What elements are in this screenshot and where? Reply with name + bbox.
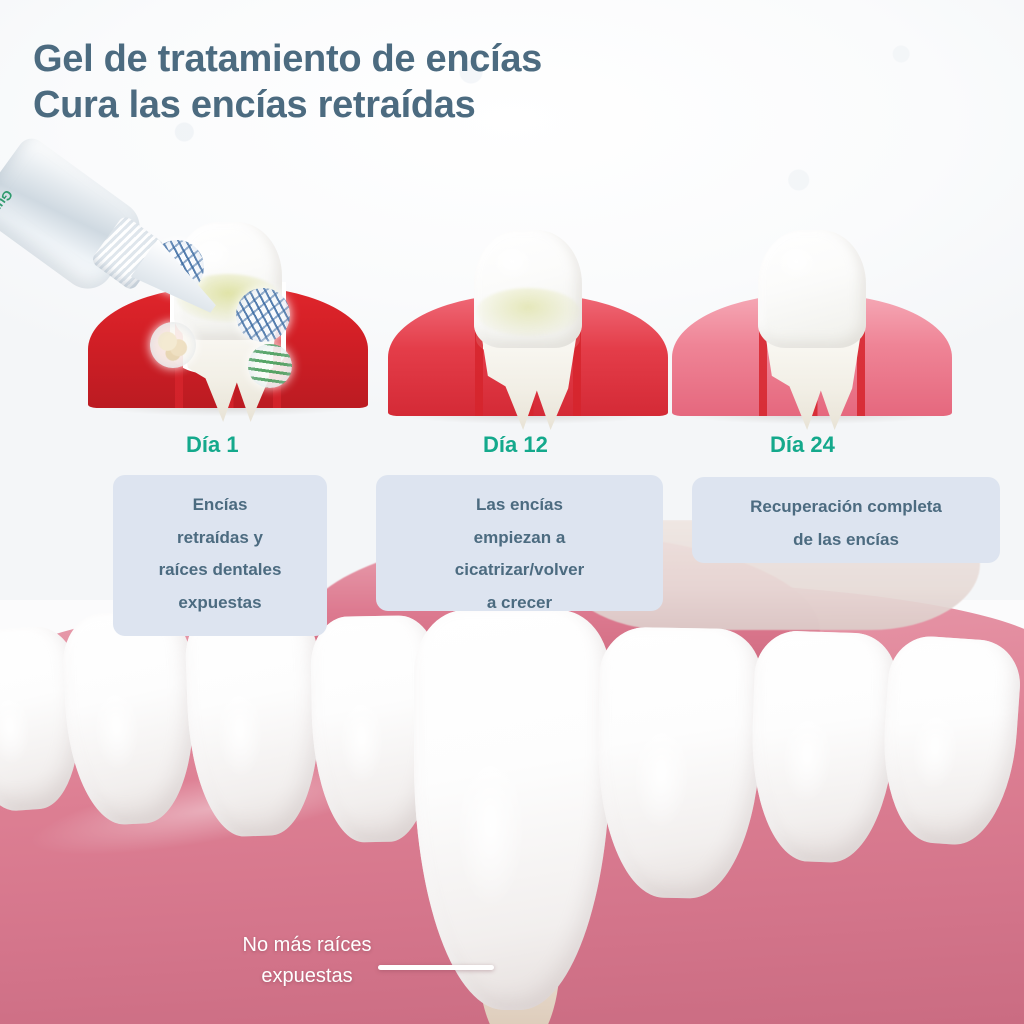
day-label-1: Día 1: [186, 432, 239, 458]
stage-caption-3: Recuperación completa de las encías: [692, 477, 1000, 563]
bottom-note-pointer-line: [378, 965, 494, 970]
gel-action-magnifier-icon: [248, 344, 292, 388]
day-label-3: Día 24: [770, 432, 835, 458]
stage-diagram-day24: [672, 230, 952, 420]
tooth-crown: [758, 230, 866, 348]
plaque-deposit: [476, 288, 580, 336]
title-line-2: Cura las encías retraídas: [33, 82, 542, 128]
stage-caption-1: Encías retraídas y raíces dentales expue…: [113, 475, 327, 636]
bottom-note-text: No más raíces expuestas: [222, 930, 392, 992]
stage-caption-2: Las encías empiezan a cicatrizar/volver …: [376, 475, 663, 611]
infographic-root: Gel de tratamiento de encías Cura las en…: [0, 0, 1024, 1024]
day-label-2: Día 12: [483, 432, 548, 458]
tartar-magnifier-icon: [150, 322, 196, 368]
page-title: Gel de tratamiento de encías Cura las en…: [33, 36, 542, 129]
title-line-1: Gel de tratamiento de encías: [33, 36, 542, 82]
bacteria-magnifier-icon: [236, 288, 290, 342]
stage-diagram-day12: [388, 230, 668, 420]
